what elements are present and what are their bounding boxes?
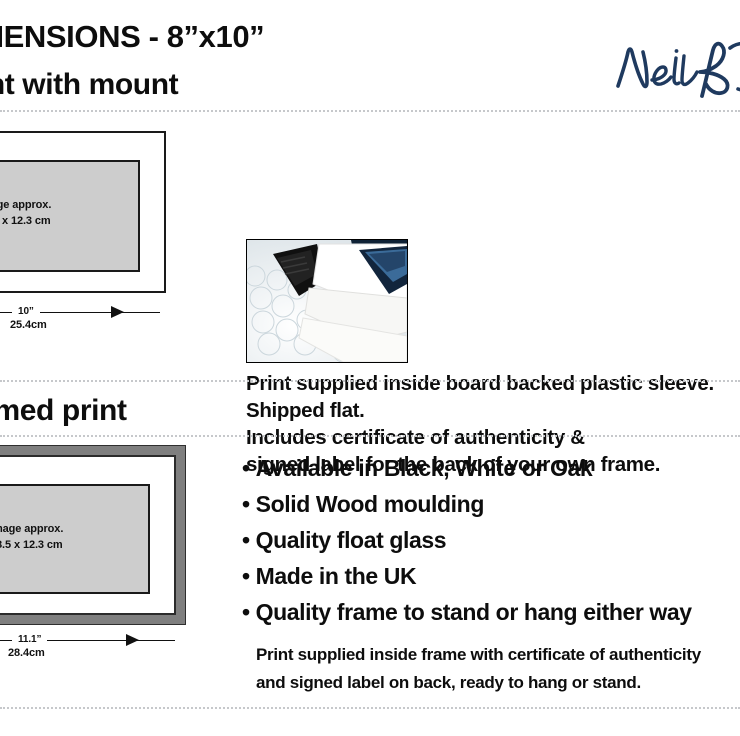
page-subtitle: Print with mount bbox=[0, 67, 368, 102]
page-header: DIMENSIONS - 8”x10” Print with mount NB bbox=[0, 0, 740, 111]
list-item: •Quality float glass bbox=[242, 522, 740, 558]
frame-image-label-line1: Image approx. bbox=[0, 522, 63, 538]
bullet-icon: • bbox=[242, 599, 250, 625]
section-heading-framed-print: Framed print bbox=[0, 394, 127, 428]
list-item: •Quality frame to stand or hang either w… bbox=[242, 594, 740, 630]
frame-description-line-2: and signed label on back, ready to hang … bbox=[256, 669, 740, 697]
divider-middle-top bbox=[0, 380, 740, 382]
mount-diagram: Image approx. 18.5 x 12.3 cm bbox=[0, 131, 166, 293]
product-photo-mount bbox=[246, 239, 408, 363]
list-item-label: Solid Wood moulding bbox=[256, 491, 484, 517]
list-item-label: Quality frame to stand or hang either wa… bbox=[256, 599, 692, 625]
mount-width-dimension: 10” 25.4cm bbox=[0, 304, 174, 338]
bullet-icon: • bbox=[242, 563, 250, 589]
mount-image-window: Image approx. 18.5 x 12.3 cm bbox=[0, 160, 140, 272]
divider-bottom bbox=[0, 707, 740, 709]
arrow-right-icon bbox=[111, 306, 124, 318]
mount-image-label-line1: Image approx. bbox=[0, 198, 51, 214]
mount-description-line-2: Shipped flat. bbox=[246, 397, 740, 424]
frame-description: Print supplied inside frame with certifi… bbox=[256, 641, 740, 697]
frame-image-label-line2: 18.5 x 12.3 cm bbox=[0, 538, 63, 554]
page-title: DIMENSIONS - 8”x10” bbox=[0, 19, 368, 56]
bullet-icon: • bbox=[242, 527, 250, 553]
list-item: •Available in Black, White or Oak bbox=[242, 450, 740, 486]
frame-width-cm: 28.4cm bbox=[8, 647, 45, 659]
mount-width-inches: 10” bbox=[12, 304, 40, 319]
frame-image-label: Image approx. 18.5 x 12.3 cm bbox=[0, 522, 63, 553]
arrow-right-icon bbox=[126, 634, 139, 646]
mount-description-line-1: Print supplied inside board backed plast… bbox=[246, 370, 740, 397]
list-item: •Solid Wood moulding bbox=[242, 486, 740, 522]
frame-diagram: Image approx. 18.5 x 12.3 cm bbox=[0, 445, 186, 625]
list-item-label: Quality float glass bbox=[256, 527, 447, 553]
brand-logo: NB bbox=[612, 34, 740, 106]
mount-image-label-line2: 18.5 x 12.3 cm bbox=[0, 214, 51, 230]
section-print-with-mount: Image approx. 18.5 x 12.3 cm 10” 25.4cm bbox=[0, 111, 740, 380]
frame-description-line-1: Print supplied inside frame with certifi… bbox=[256, 641, 740, 669]
bullet-icon: • bbox=[242, 455, 250, 481]
bullet-icon: • bbox=[242, 491, 250, 517]
title-block: DIMENSIONS - 8”x10” Print with mount bbox=[0, 19, 368, 102]
frame-image-window: Image approx. 18.5 x 12.3 cm bbox=[0, 484, 150, 594]
frame-width-inches: 11.1” bbox=[12, 632, 47, 647]
frame-feature-list: •Available in Black, White or Oak •Solid… bbox=[242, 450, 740, 630]
list-item-label: Made in the UK bbox=[256, 563, 417, 589]
frame-width-dimension: 11.1” 28.4cm bbox=[0, 632, 190, 666]
mount-image-label: Image approx. 18.5 x 12.3 cm bbox=[0, 198, 51, 229]
mount-width-cm: 25.4cm bbox=[10, 319, 47, 331]
frame-mount-area: Image approx. 18.5 x 12.3 cm bbox=[0, 455, 176, 615]
list-item-label: Available in Black, White or Oak bbox=[256, 455, 593, 481]
list-item: •Made in the UK bbox=[242, 558, 740, 594]
